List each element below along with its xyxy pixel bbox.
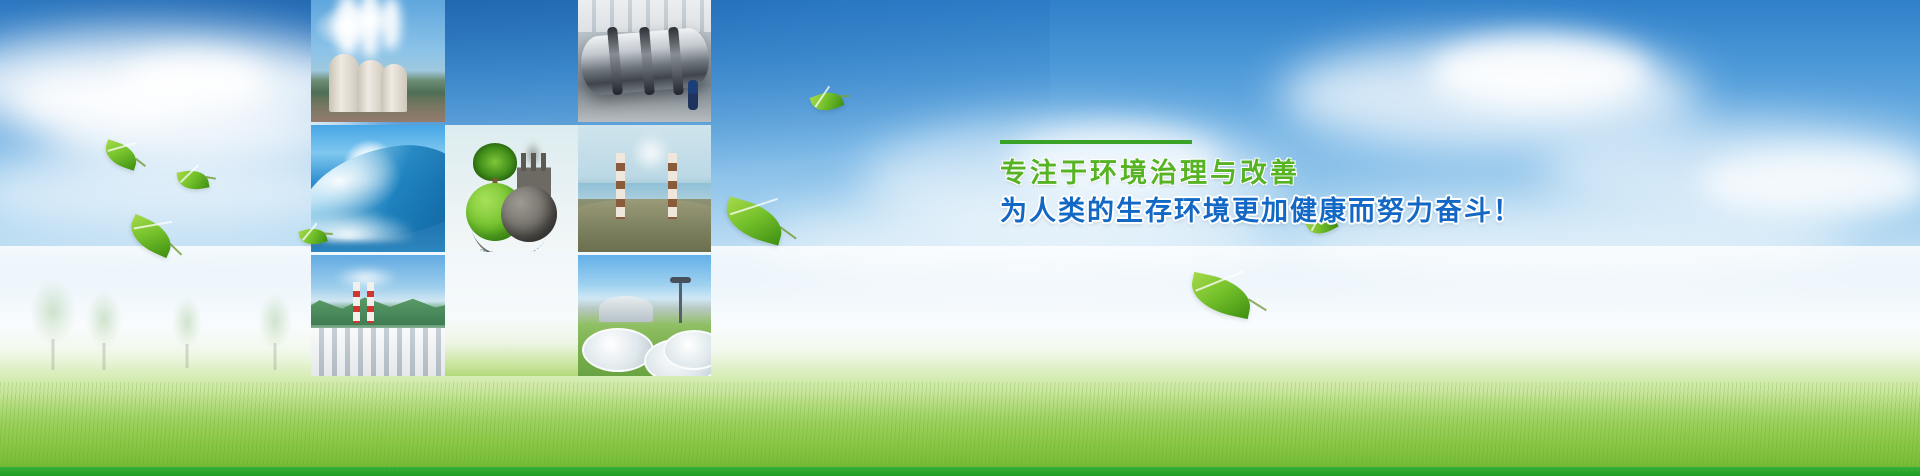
bottom-green-bar <box>0 467 1920 476</box>
wastewater-plant-photo <box>578 255 711 376</box>
headline-line-2: 为人类的生存环境更加健康而努力奋斗！ <box>1000 193 1620 229</box>
grass-texture <box>0 382 1920 468</box>
cloud-puff-2 <box>16 74 186 126</box>
petrochemical-photo <box>311 255 445 376</box>
background-tree-2 <box>86 290 122 370</box>
headline-line-1: 专注于环境治理与改善 <box>1000 156 1620 190</box>
background-tree-4 <box>258 292 292 370</box>
green-earth-concept <box>445 125 578 252</box>
cloud-puff-4 <box>1430 36 1650 110</box>
photo-mosaic <box>311 0 711 376</box>
headline-block: 专注于环境治理与改善 为人类的生存环境更加健康而努力奋斗！ <box>1000 140 1620 229</box>
sky-gap <box>445 0 578 122</box>
background-tree-1 <box>30 278 76 370</box>
rotary-kiln-photo <box>578 0 711 122</box>
sea-chimneys-photo <box>578 125 711 252</box>
field-gap <box>445 255 578 376</box>
green-divider-rule <box>1000 140 1192 144</box>
hero-banner: 专注于环境治理与改善 为人类的生存环境更加健康而努力奋斗！ <box>0 0 1920 476</box>
background-tree-3 <box>172 296 202 368</box>
cooling-towers-photo <box>311 0 445 122</box>
